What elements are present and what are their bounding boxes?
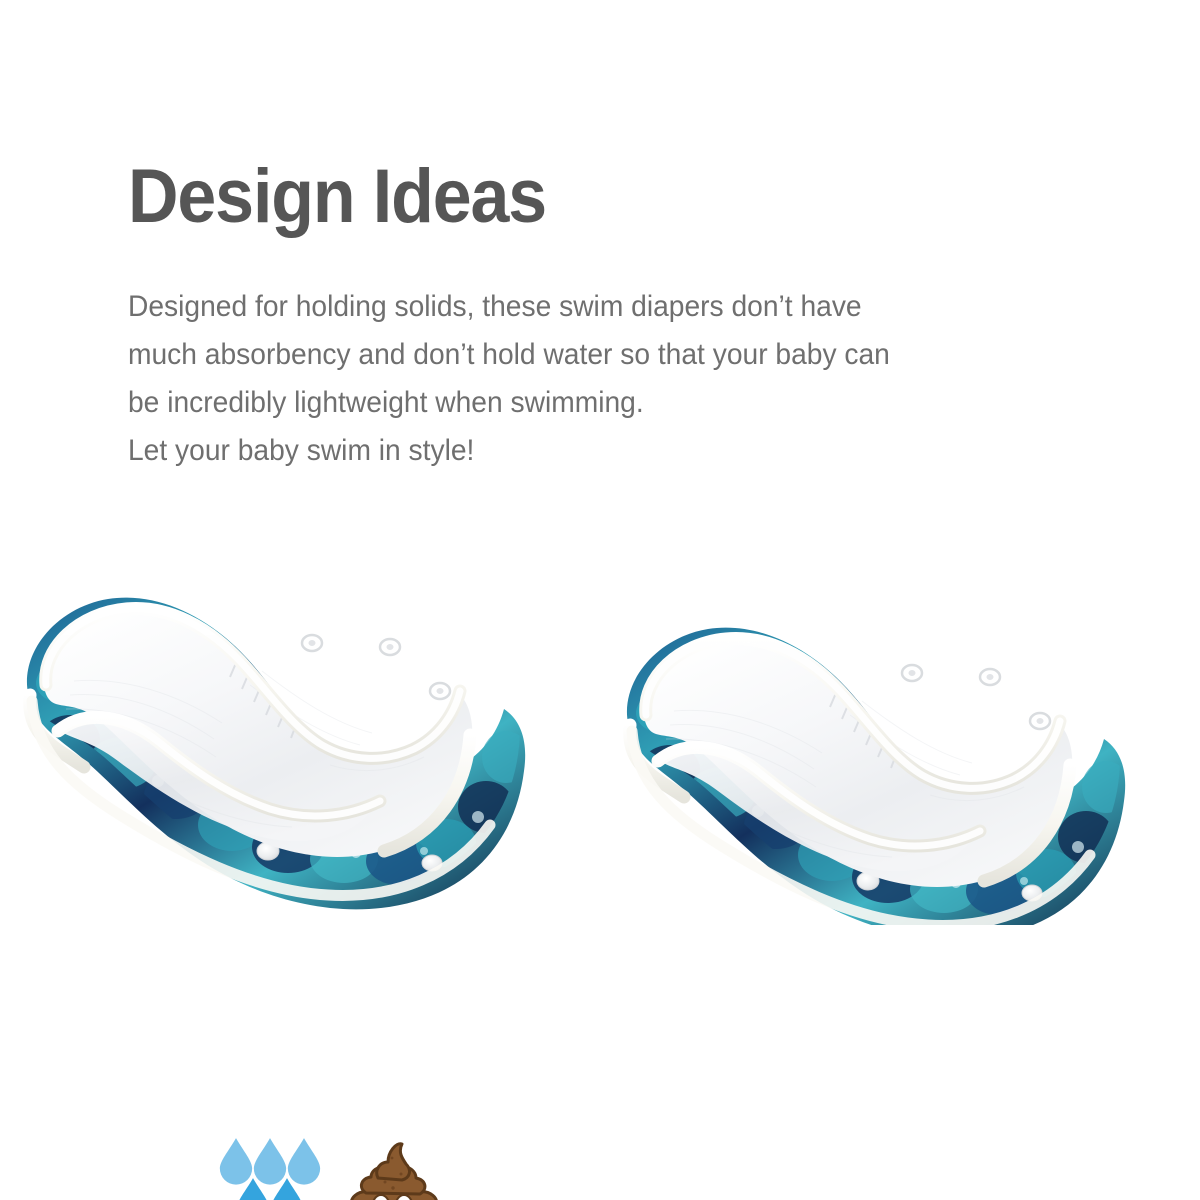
- intro-paragraph: Designed for holding solids, these swim …: [128, 283, 1059, 475]
- comparison-item-solids: hold solids or poo (Yes): [0, 495, 600, 925]
- intro-line-1: Designed for holding solids, these swim …: [128, 283, 1059, 331]
- intro-line-2: much absorbency and don’t hold water so …: [128, 331, 1059, 379]
- diaper-mesh-lining: [44, 611, 473, 857]
- poo-emoji-icon: [344, 1140, 444, 1200]
- snap-buttons[interactable]: [302, 635, 450, 699]
- swim-diaper-illustration-right: [600, 495, 1200, 925]
- page-title: Design Ideas: [128, 155, 546, 239]
- snap-buttons[interactable]: [902, 665, 1050, 729]
- diaper-mesh-lining: [644, 641, 1073, 887]
- swim-diaper-illustration-left: [0, 495, 600, 925]
- design-ideas-graphic: Design Ideas Designed for holding solids…: [0, 0, 1200, 1200]
- intro-line-4: Let your baby swim in style!: [128, 427, 1059, 475]
- water-droplets-icon: [216, 1133, 336, 1200]
- comparison-item-water: hold water or pee (No): [600, 495, 1200, 925]
- intro-line-3: be incredibly lightweight when swimming.: [128, 379, 1059, 427]
